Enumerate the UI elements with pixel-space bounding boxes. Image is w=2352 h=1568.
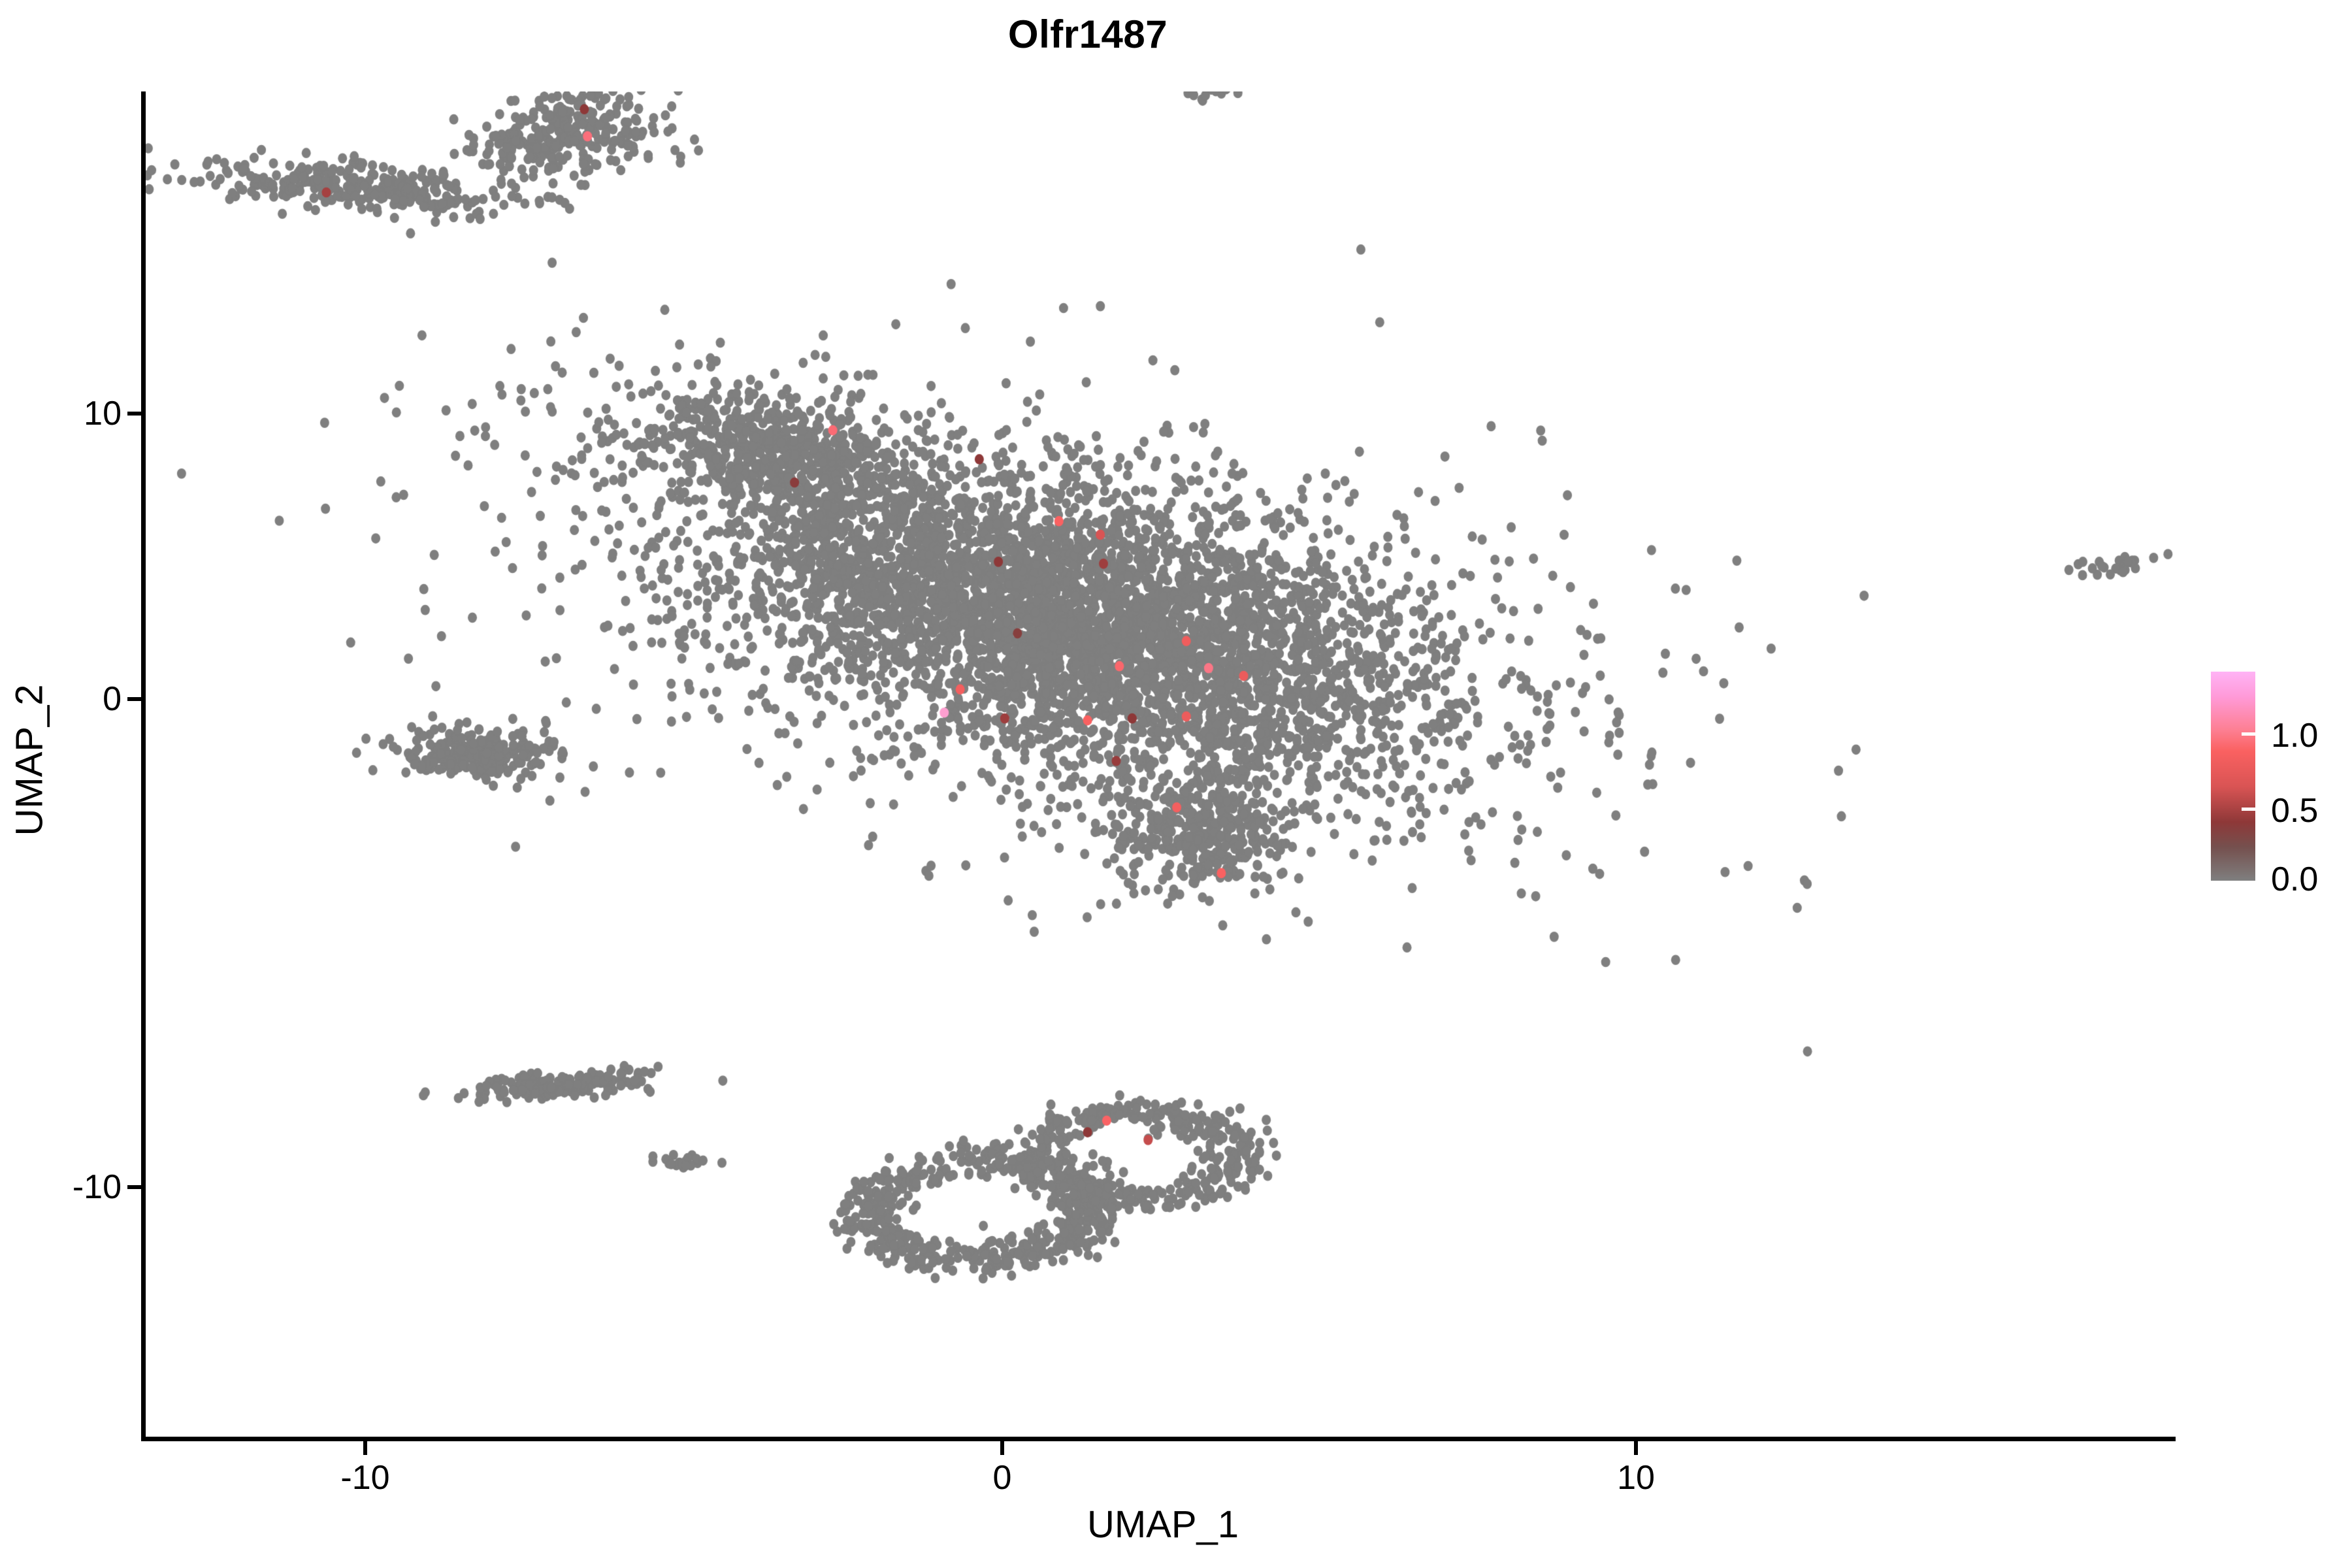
y-tick-mark--10 bbox=[127, 1185, 142, 1189]
page-title: Olfr1487 bbox=[0, 12, 2176, 57]
plot-panel bbox=[145, 91, 2176, 1439]
y-tick-label-0: 0 bbox=[103, 679, 122, 719]
color-gradient-bar bbox=[2211, 672, 2255, 881]
legend-tick-1 bbox=[2242, 732, 2255, 736]
y-axis-title: UMAP_2 bbox=[8, 532, 52, 989]
x-axis-line bbox=[141, 1437, 2176, 1441]
y-tick-mark-0 bbox=[127, 697, 142, 701]
scatter-points-canvas bbox=[145, 91, 2176, 1439]
y-tick-label-10: 10 bbox=[84, 394, 122, 433]
y-tick-mark-10 bbox=[127, 412, 142, 416]
x-tick-label--10: -10 bbox=[340, 1458, 389, 1497]
legend-label-05: 0.5 bbox=[2271, 791, 2318, 830]
x-axis-title: UMAP_1 bbox=[0, 1503, 2326, 1546]
x-tick-label-0: 0 bbox=[993, 1458, 1012, 1497]
legend-label-0: 0.0 bbox=[2271, 860, 2318, 899]
x-tick-mark-0 bbox=[1000, 1441, 1004, 1455]
y-axis-line bbox=[141, 91, 146, 1441]
x-tick-mark-10 bbox=[1634, 1441, 1638, 1455]
umap-feature-plot: Olfr1487 10 0 -10 -10 0 10 UMAP_2 UMAP_1… bbox=[0, 0, 2352, 1568]
legend-label-1: 1.0 bbox=[2271, 716, 2318, 755]
legend-tick-05 bbox=[2242, 808, 2255, 811]
y-tick-label--10: -10 bbox=[73, 1168, 122, 1207]
color-legend: 1.0 0.5 0.0 bbox=[2211, 672, 2335, 881]
x-tick-label-10: 10 bbox=[1617, 1458, 1655, 1497]
x-tick-mark--10 bbox=[363, 1441, 367, 1455]
